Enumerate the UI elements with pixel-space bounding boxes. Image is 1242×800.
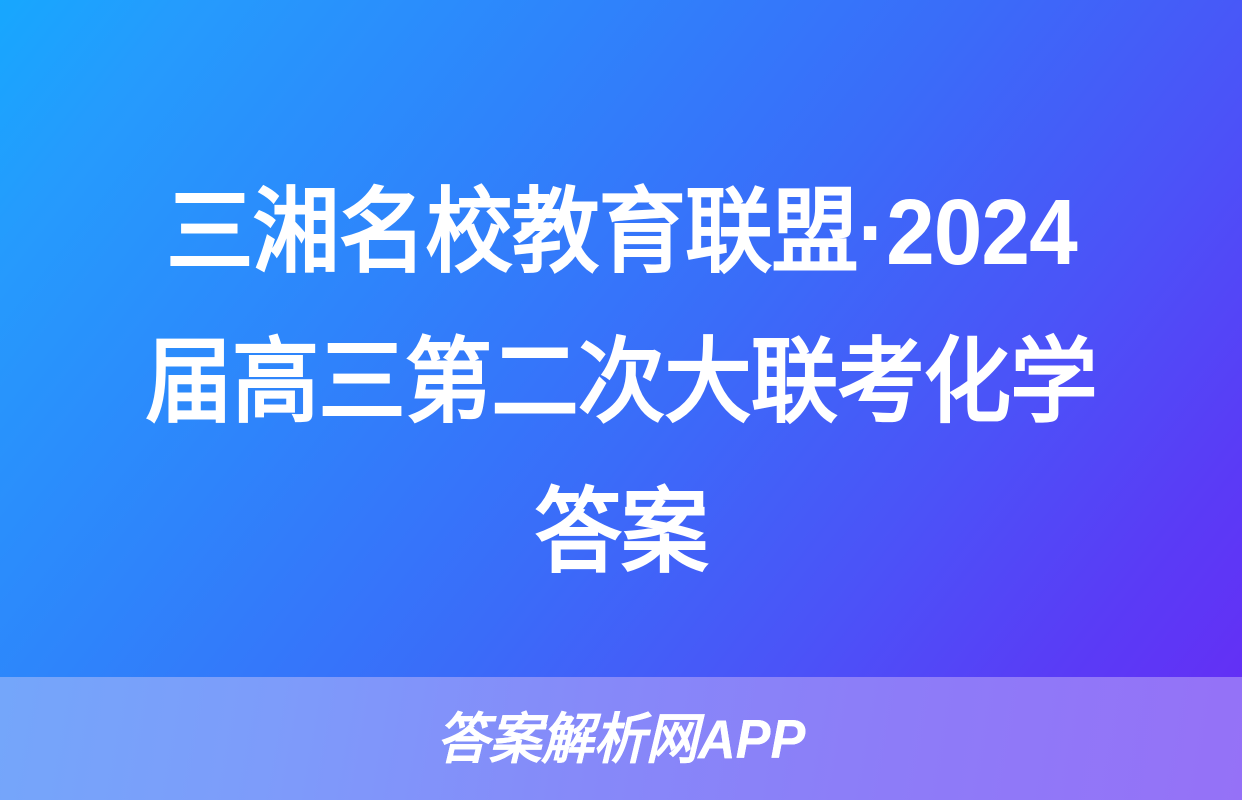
title-line-2: 届高三第二次大联考化学 [145,307,1096,457]
title-line-3: 答案 [535,457,708,607]
title-line-1: 三湘名校教育联盟·2024 [166,157,1077,307]
app-branding-band: 答案解析网APP [0,677,1242,800]
page-title: 三湘名校教育联盟·2024 届高三第二次大联考化学 答案 [0,0,1242,677]
answer-poster: 三湘名校教育联盟·2024 届高三第二次大联考化学 答案 答案解析网APP [0,0,1242,800]
app-name-label: 答案解析网APP [437,709,806,769]
